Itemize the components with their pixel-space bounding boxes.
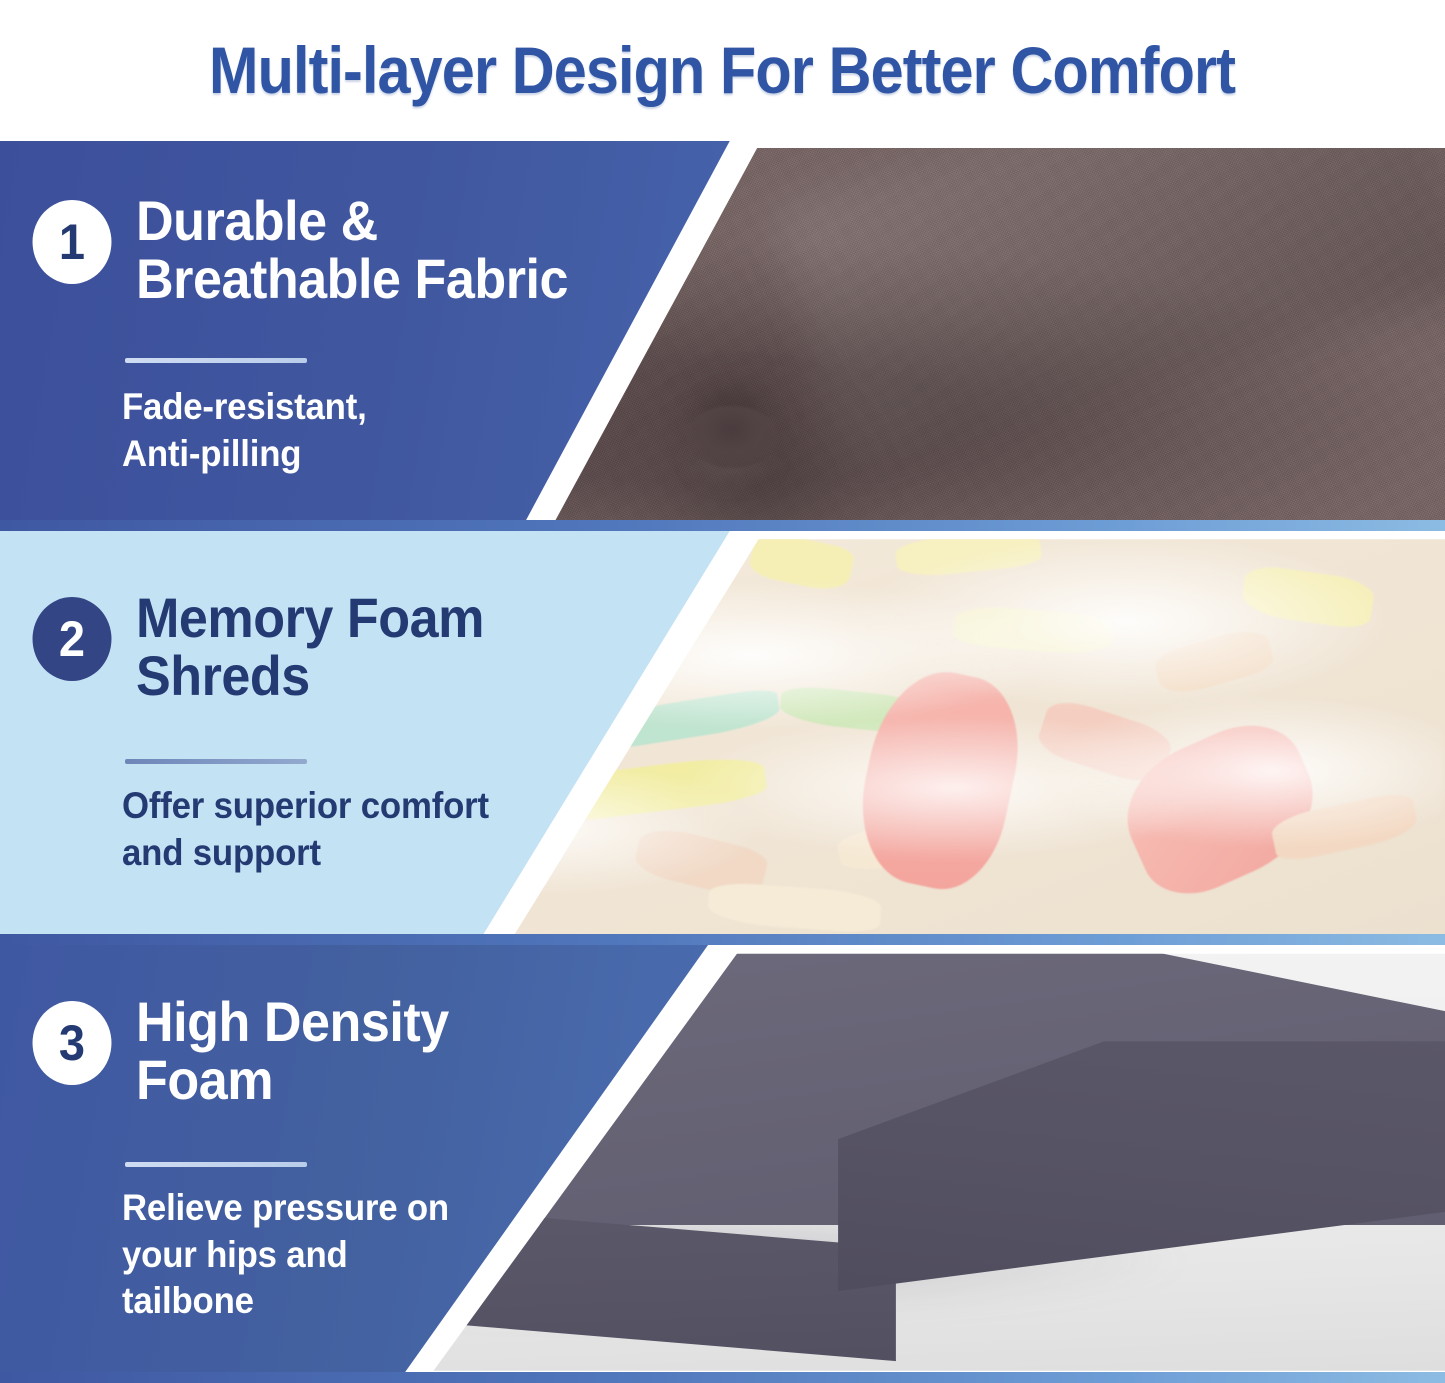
panel-1-text-column: 1 Durable & Breathable Fabric Fade-resis…	[0, 141, 640, 531]
title-bar: Multi-layer Design For Better Comfort	[0, 0, 1445, 140]
panel-2-subtext: Offer superior comfort and support	[122, 783, 489, 876]
panel-3-badge-row: 3 High Density Foam	[30, 1001, 472, 1109]
panel-3-headline: High Density Foam	[136, 993, 449, 1109]
feature-panel-2: 2 Memory Foam Shreds Offer superior comf…	[0, 531, 1445, 945]
page-title: Multi-layer Design For Better Comfort	[209, 32, 1235, 108]
feature-panel-3: 3 High Density Foam Relieve pressure on …	[0, 945, 1445, 1383]
panel-2-number-badge: 2	[33, 597, 112, 681]
panel-1-number-badge: 1	[33, 200, 112, 284]
panel-1-headline: Durable & Breathable Fabric	[136, 192, 568, 308]
panel-3-divider	[125, 1162, 307, 1167]
panel-3-number-badge: 3	[33, 1001, 112, 1085]
panel-3-subtext: Relieve pressure on your hips and tailbo…	[122, 1185, 449, 1325]
panel-seam-2	[0, 934, 1445, 945]
panel-seam-3	[0, 1372, 1445, 1383]
panel-3-text-column: 3 High Density Foam Relieve pressure on …	[0, 945, 640, 1383]
panel-1-badge-row: 1 Durable & Breathable Fabric	[30, 200, 601, 308]
panel-1-subtext: Fade-resistant, Anti-pilling	[122, 384, 367, 477]
panel-2-divider	[125, 759, 307, 764]
panel-2-headline: Memory Foam Shreds	[136, 589, 484, 705]
panel-2-badge-row: 2 Memory Foam Shreds	[30, 597, 510, 705]
fabric-tuft-button-icon	[686, 406, 778, 468]
panel-2-text-column: 2 Memory Foam Shreds Offer superior comf…	[0, 531, 640, 945]
feature-panel-1: 1 Durable & Breathable Fabric Fade-resis…	[0, 141, 1445, 531]
panel-seam-1	[0, 520, 1445, 531]
panel-1-divider	[125, 358, 307, 363]
